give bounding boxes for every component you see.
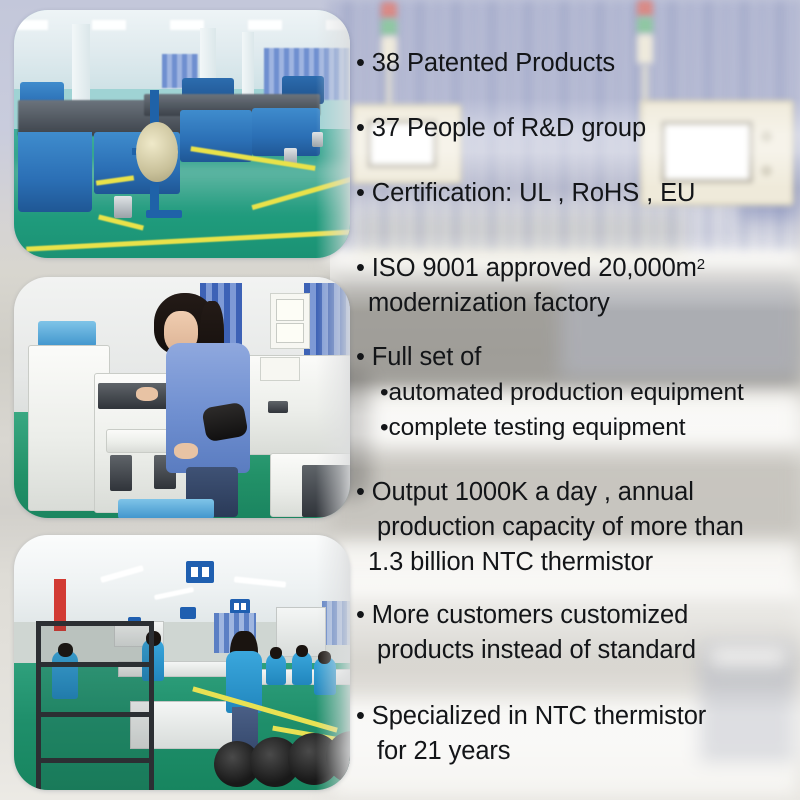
p3-worker-5-head: [296, 645, 308, 657]
p3-blue-sign-3: [180, 607, 196, 619]
p2-machine-block-1: [110, 455, 132, 491]
p1-wire-bobbin-1: [114, 196, 132, 218]
bullet-item-certification: • Certification: UL , RoHS , EU: [356, 176, 800, 211]
p2-wall-notice-1: [276, 299, 304, 321]
p3-window-curtain-2: [322, 601, 350, 645]
photo-2-scene: [14, 277, 350, 518]
p1-wire-bobbin-3: [312, 132, 323, 147]
p3-sign-glyph-1b: [202, 567, 209, 577]
bullet-line-patented-products: • 38 Patented Products: [356, 46, 800, 81]
bullet-item-specialized: • Specialized in NTC thermistor for 21 y…: [356, 699, 800, 769]
bullet-line-automated-production-equipment: •automated production equipment: [356, 375, 800, 410]
bullet-line-production-capacity: production capacity of more than: [356, 510, 800, 545]
bullet-line-rd-group: • 37 People of R&D group: [356, 111, 800, 146]
bullet-item-output: • Output 1000K a day , annual production…: [356, 475, 800, 580]
photo-assembly-line-workers: [14, 535, 350, 790]
p2-operator-hand-right: [174, 443, 198, 459]
p3-worker-4-head: [270, 647, 282, 659]
p3-rack-shelf-2: [41, 712, 149, 717]
bullet-line-full-set-of: • Full set of: [356, 340, 800, 375]
p3-rack-shelf-1: [41, 662, 149, 667]
p3-metal-rack: [36, 621, 154, 790]
bullet-line-for-21-years: for 21 years: [356, 734, 800, 769]
bullet-line-complete-testing-equipment: •complete testing equipment: [356, 410, 800, 445]
iso-9001-text: • ISO 9001 approved 20,000m: [356, 254, 697, 282]
p3-sign-glyph-2a: [234, 603, 239, 610]
photo-3-scene: [14, 535, 350, 790]
slide-canvas: • 38 Patented Products • 37 People of R&…: [0, 0, 800, 800]
p2-machine-dark-right: [302, 465, 350, 517]
p3-sign-glyph-2b: [241, 603, 246, 610]
p1-tape-reel: [136, 122, 178, 182]
bullet-line-1-3-billion: 1.3 billion NTC thermistor: [356, 545, 800, 580]
p1-cabinet-1: [18, 132, 92, 212]
p3-blue-sign-1: [186, 561, 214, 583]
bullet-line-products-instead-of-standard: products instead of standard: [356, 633, 800, 668]
p1-ceiling-lights: [14, 20, 350, 30]
bullet-item-patented-products: • 38 Patented Products: [356, 46, 800, 81]
square-meter-superscript: 2: [697, 256, 705, 273]
p3-blue-sign-2: [230, 599, 250, 614]
p2-blue-crate-top: [38, 321, 96, 347]
photo-operator-at-machine: [14, 277, 350, 518]
p2-right-knob: [268, 401, 288, 413]
photo-factory-production-workshop: [14, 10, 350, 258]
bullet-item-customized: • More customers customized products ins…: [356, 598, 800, 668]
bullet-line-modernization-factory: modernization factory: [356, 286, 800, 321]
p2-wall-notice-2: [276, 323, 304, 343]
bullet-line-specialized-in-ntc: • Specialized in NTC thermistor: [356, 699, 800, 734]
bullet-item-rd-group: • 37 People of R&D group: [356, 111, 800, 146]
p3-sign-glyph-1a: [191, 567, 198, 577]
bullet-line-iso-9001: • ISO 9001 approved 20,000m2: [356, 247, 800, 286]
photo-1-scene: [14, 10, 350, 258]
p1-blue-post-base: [146, 210, 182, 218]
bullet-text-column: • 38 Patented Products • 37 People of R&…: [356, 0, 800, 800]
bullet-item-iso-9001: • ISO 9001 approved 20,000m2 modernizati…: [356, 247, 800, 321]
p1-pillar-3: [242, 32, 254, 102]
p2-right-control: [260, 357, 300, 381]
bullet-line-certification: • Certification: UL , RoHS , EU: [356, 176, 800, 211]
bullet-item-full-set: • Full set of •automated production equi…: [356, 340, 800, 445]
bullet-line-output-1000k: • Output 1000K a day , annual: [356, 475, 800, 510]
p2-operator-hand-left: [136, 387, 158, 401]
p3-rack-shelf-3: [41, 758, 149, 763]
p2-blue-curtain-2: [304, 283, 350, 361]
p3-worker-6-head: [318, 651, 331, 664]
p2-blue-crate-bottom: [118, 499, 214, 518]
bullet-line-more-customers-customized: • More customers customized: [356, 598, 800, 633]
